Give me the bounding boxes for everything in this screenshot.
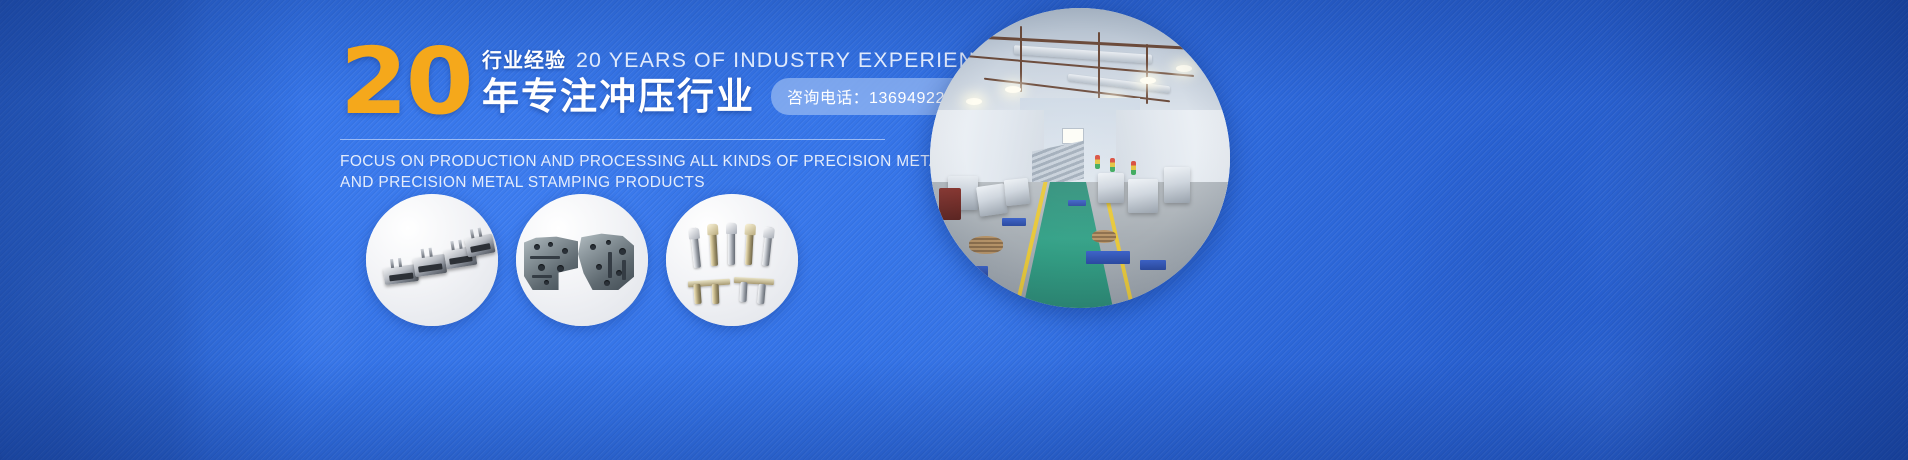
- terminal-pin-7: [712, 284, 720, 304]
- photo-vignette: [930, 8, 1230, 308]
- description-line-2: AND PRECISION METAL STAMPING PRODUCTS: [340, 172, 900, 193]
- factory-photo-circle[interactable]: [930, 8, 1230, 308]
- product-circle-stamping-die[interactable]: [516, 194, 648, 326]
- headline-text-group: 行业经验 20 YEARS OF INDUSTRY EXPERIENCE 年专注…: [482, 38, 999, 119]
- product-circle-group: [366, 194, 798, 326]
- terminal-pin-6: [693, 284, 701, 304]
- headline-divider: [340, 139, 885, 140]
- description-text: FOCUS ON PRODUCTION AND PROCESSING ALL K…: [340, 151, 900, 193]
- headline-cn-small: 行业经验: [482, 44, 566, 73]
- terminal-pin-3: [728, 223, 735, 265]
- headline-line-secondary: 行业经验 20 YEARS OF INDUSTRY EXPERIENCE: [482, 44, 999, 73]
- description-line-1: FOCUS ON PRODUCTION AND PROCESSING ALL K…: [340, 151, 900, 172]
- headline-line-primary: 年专注冲压行业 咨询电话：13694922701: [482, 75, 999, 119]
- years-number: 20: [340, 40, 471, 125]
- promo-banner: 20 行业经验 20 YEARS OF INDUSTRY EXPERIENCE …: [0, 0, 1908, 460]
- terminal-pin-8: [739, 282, 747, 302]
- headline-row: 20 行业经验 20 YEARS OF INDUSTRY EXPERIENCE …: [340, 38, 900, 125]
- phone-label: 咨询电话：: [787, 88, 869, 107]
- product-circle-usb-connector-shells[interactable]: [366, 194, 498, 326]
- terminal-pin-2: [709, 224, 718, 266]
- headline-cn-big: 年专注冲压行业: [482, 75, 755, 119]
- product-circle-terminal-pins[interactable]: [666, 194, 798, 326]
- headline-block: 20 行业经验 20 YEARS OF INDUSTRY EXPERIENCE …: [340, 38, 900, 193]
